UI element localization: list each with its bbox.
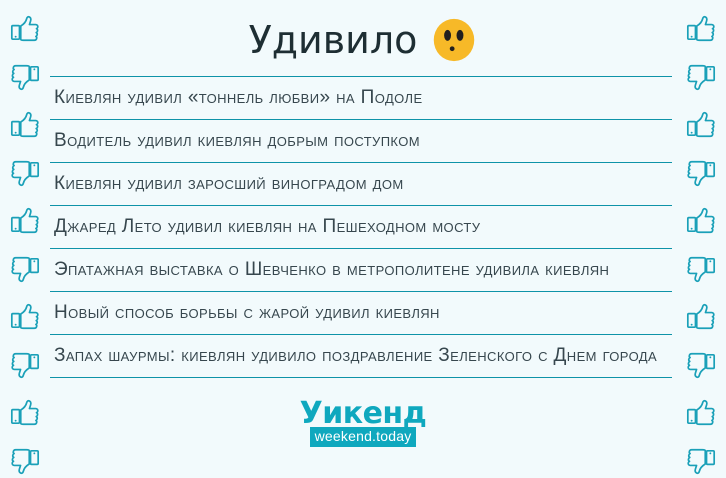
site-logo[interactable]: Уикенд weekend.today [0,398,726,460]
thumbs-up-icon[interactable] [684,12,718,46]
thumbs-up-icon[interactable] [8,108,42,142]
list-item[interactable]: Эпатажная выставка о Шевченко в метропол… [50,249,672,292]
thumbs-down-icon[interactable] [684,156,718,190]
list-item[interactable]: Джаред Лето удивил киевлян на Пешеходном… [50,206,672,249]
list-item-headline: Новый способ борьбы с жарой удивил киевл… [54,299,670,327]
right-reaction-rail [676,0,726,473]
headline-list: Киевлян удивил «тоннель любви» на Подоле… [50,76,672,378]
thumbs-down-icon[interactable] [684,252,718,286]
thumbs-up-icon[interactable] [684,300,718,334]
thumbs-down-icon[interactable] [8,348,42,382]
list-item[interactable]: Киевлян удивил заросший виноградом дом [50,163,672,206]
list-item-headline: Джаред Лето удивил киевлян на Пешеходном… [54,213,670,241]
thumbs-up-icon[interactable] [684,108,718,142]
list-item-headline: Водитель удивил киевлян добрым поступком [54,127,670,155]
logo-wordmark: Уикенд [300,398,427,430]
page-header: Удивило [50,6,676,74]
list-item[interactable]: Новый способ борьбы с жарой удивил киевл… [50,292,672,335]
page-title: Удивило [249,21,418,59]
logo-domain: weekend.today [310,427,417,447]
page-root: Удивило Киевлян удивил «тоннель любви» н… [0,0,726,473]
list-item[interactable]: Водитель удивил киевлян добрым поступком [50,120,672,163]
thumbs-down-icon[interactable] [8,252,42,286]
thumbs-up-icon[interactable] [8,300,42,334]
thumbs-down-icon[interactable] [8,60,42,94]
thumbs-up-icon[interactable] [684,396,718,430]
face-with-open-mouth-emoji [431,17,477,63]
list-item[interactable]: Запах шаурмы: киевлян удивило поздравлен… [50,335,672,378]
thumbs-down-icon[interactable] [684,348,718,382]
list-item-headline: Эпатажная выставка о Шевченко в метропол… [54,256,670,284]
thumbs-up-icon[interactable] [8,12,42,46]
thumbs-up-icon[interactable] [684,204,718,238]
thumbs-down-icon[interactable] [8,156,42,190]
thumbs-down-icon[interactable] [684,60,718,94]
thumbs-up-icon[interactable] [8,204,42,238]
list-item-headline: Запах шаурмы: киевлян удивило поздравлен… [54,342,670,370]
list-item-headline: Киевлян удивил заросший виноградом дом [54,170,670,198]
list-item-headline: Киевлян удивил «тоннель любви» на Подоле [54,84,670,112]
list-item[interactable]: Киевлян удивил «тоннель любви» на Подоле [50,77,672,120]
